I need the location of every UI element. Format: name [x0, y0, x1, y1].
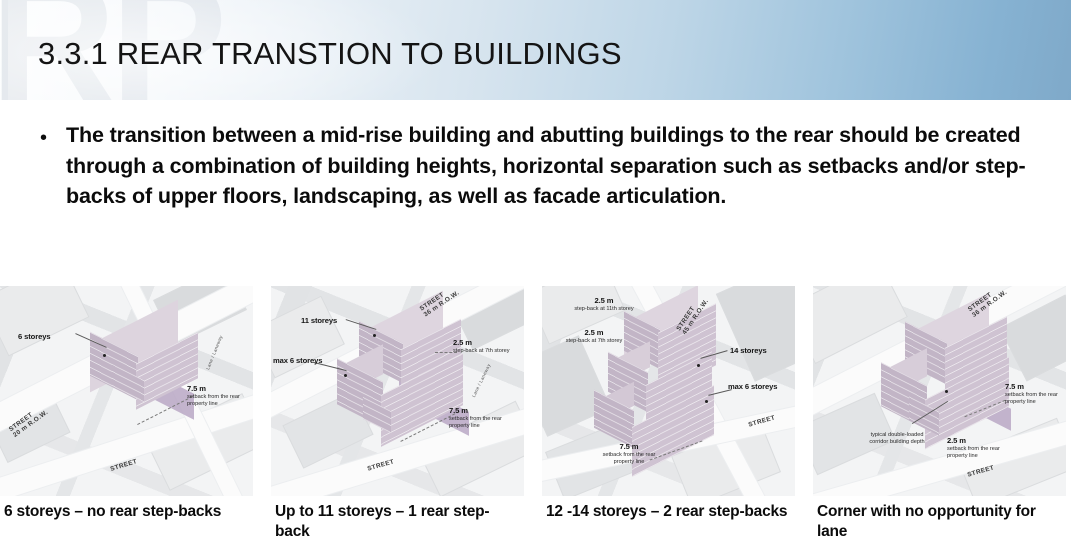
- label-stepback-note: step-back at 7th storey: [453, 348, 510, 354]
- label-storeys-value: 6 storeys: [18, 332, 50, 342]
- panel-1-figure: 6 storeys 7.5 m setback from the rear pr…: [0, 286, 253, 496]
- label-building-depth-note: typical double-loaded corridor building …: [869, 432, 924, 445]
- label-rear-setback-secondary: 2.5 m setback from the rear property lin…: [947, 436, 1007, 460]
- label-upper-storeys-value: 14 storeys: [730, 346, 767, 356]
- leader-dot: [344, 374, 347, 377]
- leader-dot: [373, 334, 376, 337]
- label-rear-setback-value: 7.5 m: [449, 406, 511, 416]
- bullet-item: • The transition between a mid-rise buil…: [40, 120, 1053, 212]
- panel-3: 2.5 m step-back at 11th storey 2.5 m ste…: [542, 286, 795, 548]
- label-upper-storeys-value: 11 storeys: [301, 316, 337, 326]
- leader-dot: [697, 364, 700, 367]
- label-rear-setback-secondary-value: 2.5 m: [947, 436, 1007, 446]
- panel-4: typical double-loaded corridor building …: [813, 286, 1066, 548]
- label-storeys: 6 storeys: [18, 332, 50, 342]
- label-stepback-7th-note: step-back at 7th storey: [566, 338, 623, 344]
- label-rear-setback-note: setback from the rear property line: [603, 452, 656, 465]
- slide-header: RP 3.3.1 REAR TRANSTION TO BUILDINGS: [0, 0, 1071, 102]
- label-stepback-7th: 2.5 m step-back at 7th storey: [564, 328, 624, 345]
- label-rear-setback-note: setback from the rear property line: [1005, 392, 1058, 405]
- panel-2-figure: 11 storeys max 6 storeys 2.5 m step-back…: [271, 286, 524, 496]
- label-building-depth: typical double-loaded corridor building …: [869, 432, 925, 446]
- bullet-text: The transition between a mid-rise buildi…: [66, 120, 1053, 212]
- label-rear-setback-value: 7.5 m: [598, 442, 660, 452]
- header-divider: [0, 100, 1071, 102]
- diagram-panel-row: 6 storeys 7.5 m setback from the rear pr…: [0, 286, 1071, 548]
- leader-dot: [945, 390, 948, 393]
- label-stepback-value: 2.5 m: [453, 338, 513, 348]
- label-stepback-11th-value: 2.5 m: [574, 296, 634, 306]
- panel-3-caption: 12 -14 storeys – 2 rear step-backs: [542, 496, 795, 522]
- label-lower-storeys-value: max 6 storeys: [728, 382, 777, 392]
- label-rear-setback-value: 7.5 m: [187, 384, 249, 394]
- label-stepback-7th-value: 2.5 m: [564, 328, 624, 338]
- label-stepback: 2.5 m step-back at 7th storey: [453, 338, 513, 355]
- panel-3-figure: 2.5 m step-back at 11th storey 2.5 m ste…: [542, 286, 795, 496]
- slide: RP 3.3.1 REAR TRANSTION TO BUILDINGS • T…: [0, 0, 1071, 548]
- label-rear-setback-secondary-note: setback from the rear property line: [947, 446, 1000, 459]
- label-rear-setback: 7.5 m setback from the rear property lin…: [1005, 382, 1063, 406]
- label-lower-storeys-value: max 6 storeys: [273, 356, 322, 366]
- panel-4-figure: typical double-loaded corridor building …: [813, 286, 1066, 496]
- panel-2-caption: Up to 11 storeys – 1 rear step-back: [271, 496, 524, 542]
- label-rear-setback: 7.5 m setback from the rear property lin…: [598, 442, 660, 466]
- panel-1-caption: 6 storeys – no rear step-backs: [0, 496, 253, 522]
- leader-dot: [705, 400, 708, 403]
- leader-dot: [103, 354, 106, 357]
- label-stepback-11th-note: step-back at 11th storey: [574, 306, 633, 312]
- label-rear-setback-note: setback from the rear property line: [187, 394, 240, 407]
- label-lower-storeys: max 6 storeys: [273, 356, 322, 366]
- label-lower-storeys: max 6 storeys: [728, 382, 777, 392]
- panel-2: 11 storeys max 6 storeys 2.5 m step-back…: [271, 286, 524, 548]
- panel-4-caption: Corner with no opportunity for lane: [813, 496, 1066, 542]
- bullet-marker-icon: •: [40, 120, 66, 148]
- label-rear-setback-value: 7.5 m: [1005, 382, 1063, 392]
- label-stepback-11th: 2.5 m step-back at 11th storey: [574, 296, 634, 313]
- body-content: • The transition between a mid-rise buil…: [0, 112, 1071, 262]
- label-upper-storeys: 11 storeys: [301, 316, 337, 326]
- label-rear-setback: 7.5 m setback from the rear property lin…: [187, 384, 249, 408]
- label-upper-storeys: 14 storeys: [730, 346, 767, 356]
- label-rear-setback: 7.5 m setback from the rear property lin…: [449, 406, 511, 430]
- panel-1: 6 storeys 7.5 m setback from the rear pr…: [0, 286, 253, 548]
- label-rear-setback-note: setback from the rear property line: [449, 416, 502, 429]
- page-title: 3.3.1 REAR TRANSTION TO BUILDINGS: [38, 36, 622, 72]
